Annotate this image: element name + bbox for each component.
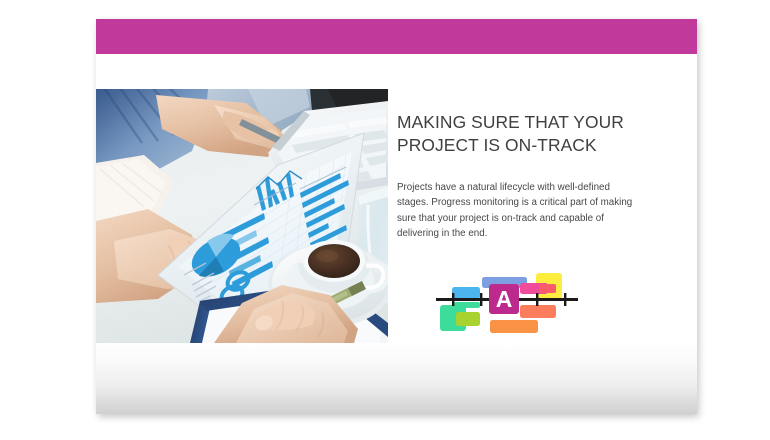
page-title-line-2: PROJECT IS ON-TRACK bbox=[397, 135, 597, 155]
page-title: MAKING SURE THAT YOURPROJECT IS ON-TRACK bbox=[397, 111, 649, 157]
slide-canvas: MAKING SURE THAT YOURPROJECT IS ON-TRACK… bbox=[0, 0, 770, 440]
slide-footer-gradient bbox=[96, 342, 697, 414]
page-title-line-1: MAKING SURE THAT YOUR bbox=[397, 112, 624, 132]
slide-header-band bbox=[96, 19, 697, 54]
slide-text-column: MAKING SURE THAT YOURPROJECT IS ON-TRACK… bbox=[397, 111, 649, 241]
slide-body-text: Projects have a natural lifecycle with w… bbox=[397, 180, 639, 241]
business-meeting-tablet-analytics-photo bbox=[96, 89, 388, 343]
gantt-badge-letter: A bbox=[496, 286, 513, 312]
presentation-slide: MAKING SURE THAT YOURPROJECT IS ON-TRACK… bbox=[96, 19, 697, 414]
project-timeline-gantt-clipart: A bbox=[434, 265, 580, 345]
